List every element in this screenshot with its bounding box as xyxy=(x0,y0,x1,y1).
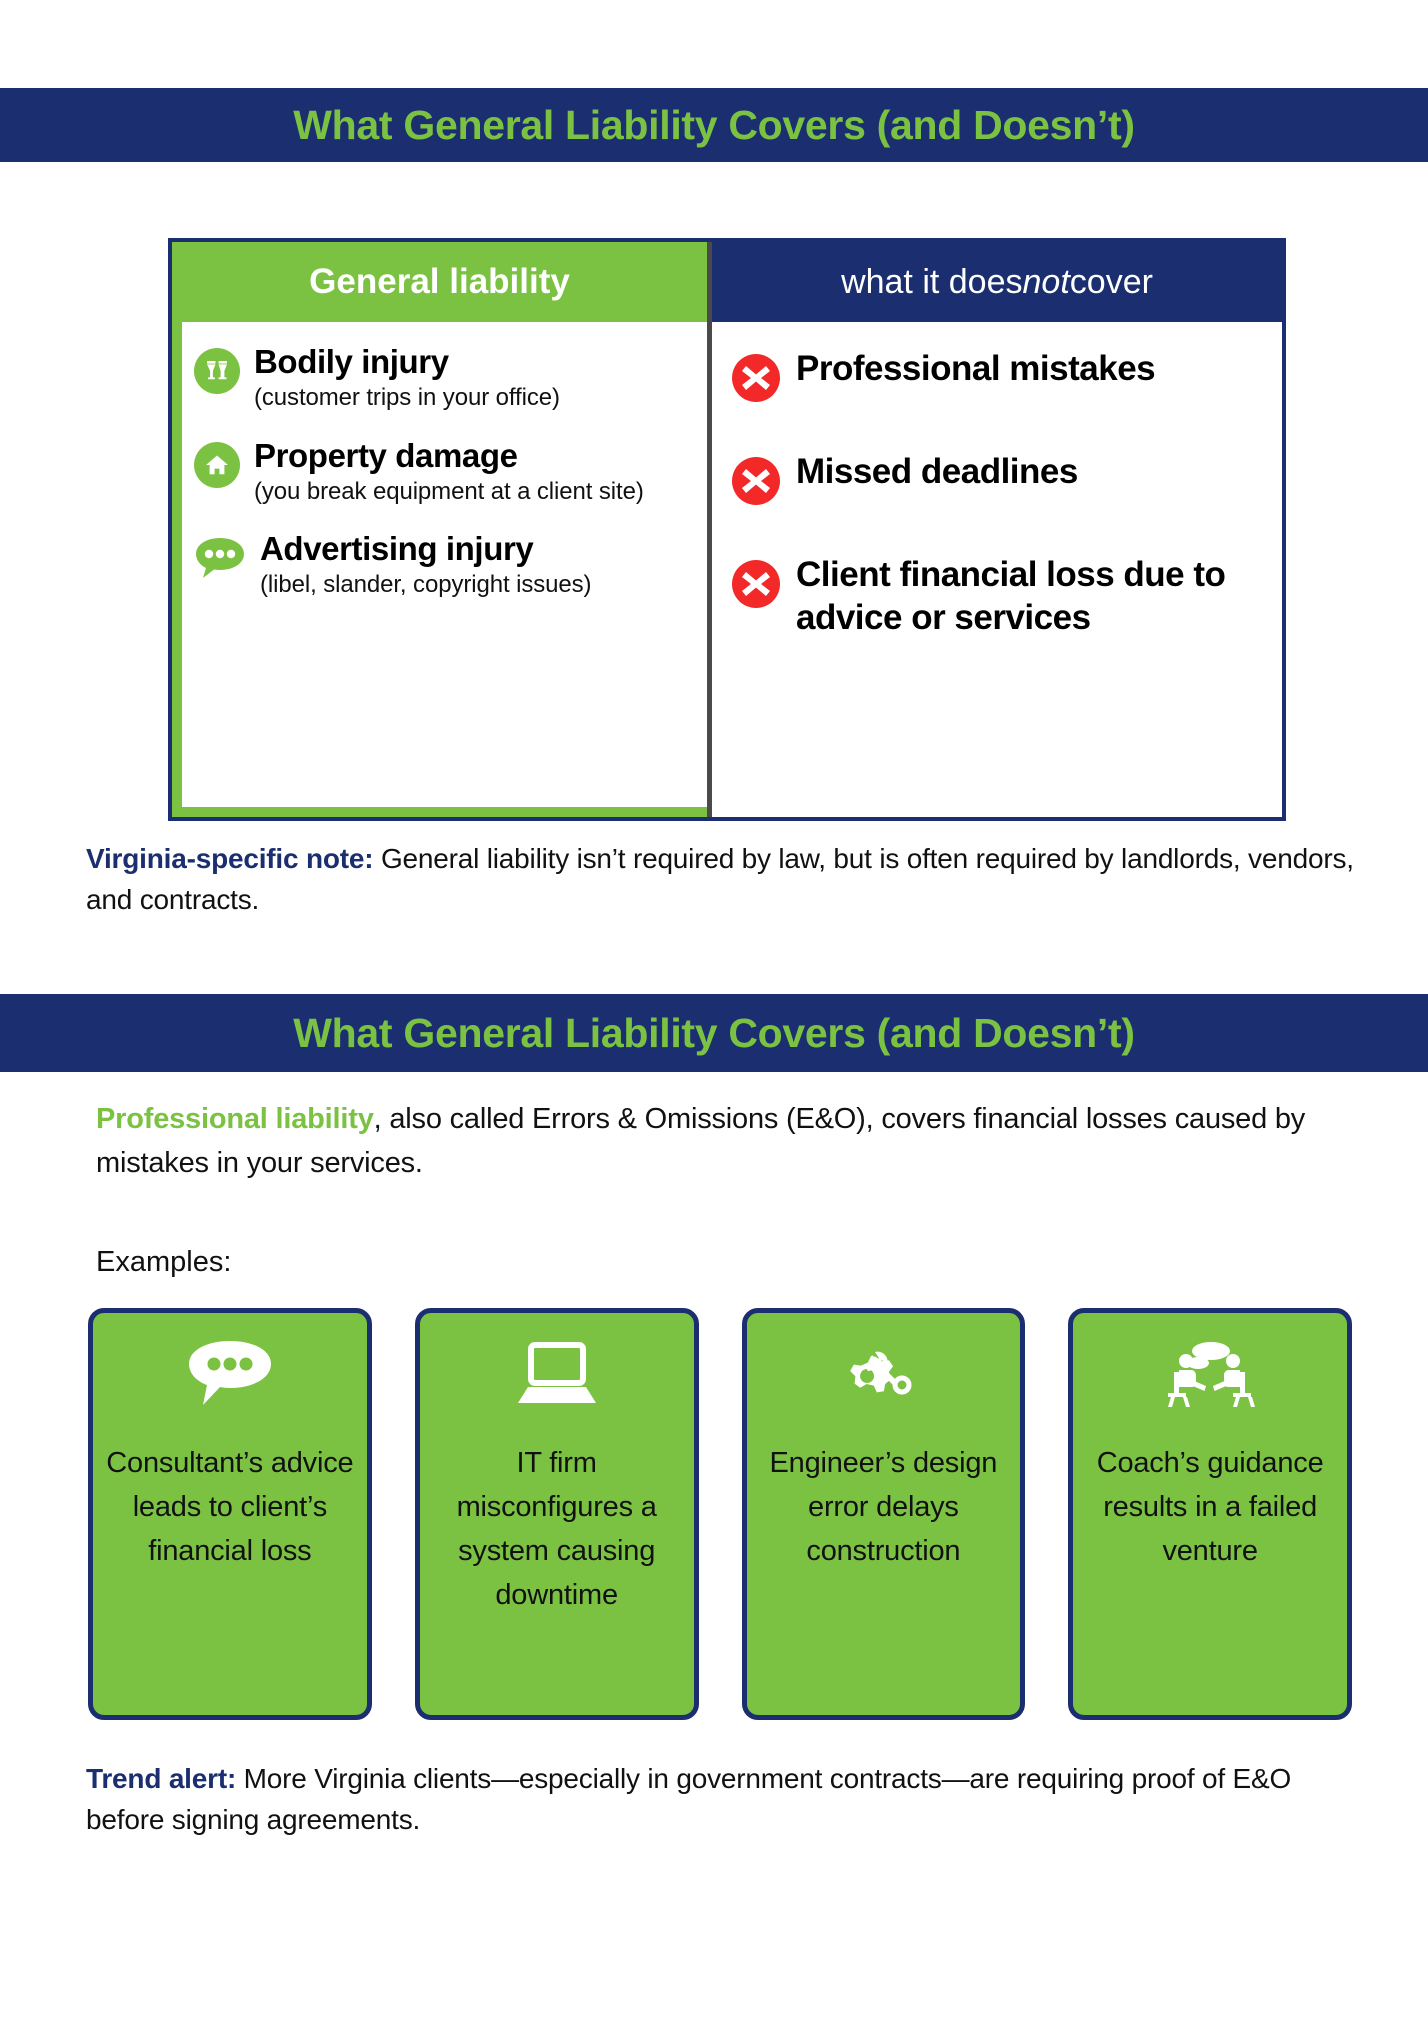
list-item: Property damage (you break equipment at … xyxy=(194,438,697,508)
column-general-liability: General liability xyxy=(172,242,712,817)
list-item-title: Missed deadlines xyxy=(796,451,1268,494)
column-header-right-label-post: cover xyxy=(1070,263,1153,302)
meeting-people-icon xyxy=(1162,1339,1258,1409)
virginia-specific-note: Virginia-specific note: General liabilit… xyxy=(86,838,1376,921)
list-item-title: Property damage xyxy=(254,438,697,475)
list-item: Missed deadlines xyxy=(730,451,1268,512)
example-card-consultant[interactable]: Consultant’s advice leads to client’s fi… xyxy=(88,1308,372,1720)
red-x-icon xyxy=(730,558,782,615)
trend-alert-note: Trend alert: More Virginia clients—espec… xyxy=(86,1758,1356,1841)
list-item: Client financial loss due to advice or s… xyxy=(730,554,1268,639)
professional-liability-intro: Professional liability, also called Erro… xyxy=(96,1098,1386,1185)
example-card-coach[interactable]: Coach’s guidance results in a failed ven… xyxy=(1068,1308,1352,1720)
column-header-general-liability: General liability xyxy=(172,242,707,322)
list-item-subtitle: (libel, slander, copyright issues) xyxy=(260,570,697,601)
red-x-icon xyxy=(730,455,782,512)
cocktail-glasses-icon xyxy=(194,348,240,394)
intro-highlight: Professional liability xyxy=(96,1103,374,1135)
examples-label: Examples: xyxy=(96,1246,231,1279)
list-item: Advertising injury (libel, slander, copy… xyxy=(194,531,697,601)
list-item: Bodily injury (customer trips in your of… xyxy=(194,344,697,414)
trend-alert-body: More Virginia clients—especially in gove… xyxy=(86,1763,1291,1835)
column-header-right-label-pre: what it does xyxy=(841,263,1022,302)
example-card-text: Engineer’s design error delays construct… xyxy=(759,1441,1009,1573)
list-item-subtitle: (customer trips in your office) xyxy=(254,383,697,414)
list-item-subtitle: (you break equipment at a client site) xyxy=(254,477,697,508)
example-cards-row: Consultant’s advice leads to client’s fi… xyxy=(88,1308,1352,1720)
column-header-right-label-italic: not xyxy=(1023,263,1070,302)
virginia-note-label: Virginia-specific note: xyxy=(86,843,373,874)
list-item: Professional mistakes xyxy=(730,348,1268,409)
example-card-text: Consultant’s advice leads to client’s fi… xyxy=(105,1441,355,1573)
list-item-title: Advertising injury xyxy=(260,531,697,568)
red-x-icon xyxy=(730,352,782,409)
column-header-left-label: General liability xyxy=(309,262,570,302)
section-banner-second: What General Liability Covers (and Doesn… xyxy=(0,994,1428,1072)
column-not-covered: what it does not cover Professional mist… xyxy=(712,242,1282,817)
not-covered-items-list: Professional mistakes Missed deadlines xyxy=(712,322,1282,817)
home-icon xyxy=(194,442,240,488)
coverage-comparison-table: General liability xyxy=(168,238,1286,821)
list-item-title: Bodily injury xyxy=(254,344,697,381)
list-item-title: Professional mistakes xyxy=(796,348,1268,391)
speech-bubble-icon xyxy=(194,535,246,586)
banner-top-title: What General Liability Covers (and Doesn… xyxy=(293,105,1134,146)
column-header-not-covered: what it does not cover xyxy=(712,242,1282,322)
banner-second-title: What General Liability Covers (and Doesn… xyxy=(293,1013,1134,1054)
speech-bubble-icon xyxy=(186,1339,274,1409)
wrench-gear-icon xyxy=(841,1339,925,1409)
example-card-it-firm[interactable]: IT firm misconfigures a system causing d… xyxy=(415,1308,699,1720)
example-card-text: IT firm misconfigures a system causing d… xyxy=(432,1441,682,1617)
list-item-title: Client financial loss due to advice or s… xyxy=(796,554,1268,639)
trend-alert-label: Trend alert: xyxy=(86,1763,236,1794)
example-card-engineer[interactable]: Engineer’s design error delays construct… xyxy=(742,1308,1026,1720)
section-banner-top: What General Liability Covers (and Doesn… xyxy=(0,88,1428,162)
laptop-icon xyxy=(512,1339,602,1409)
covered-items-list: Bodily injury (customer trips in your of… xyxy=(172,322,707,817)
example-card-text: Coach’s guidance results in a failed ven… xyxy=(1085,1441,1335,1573)
